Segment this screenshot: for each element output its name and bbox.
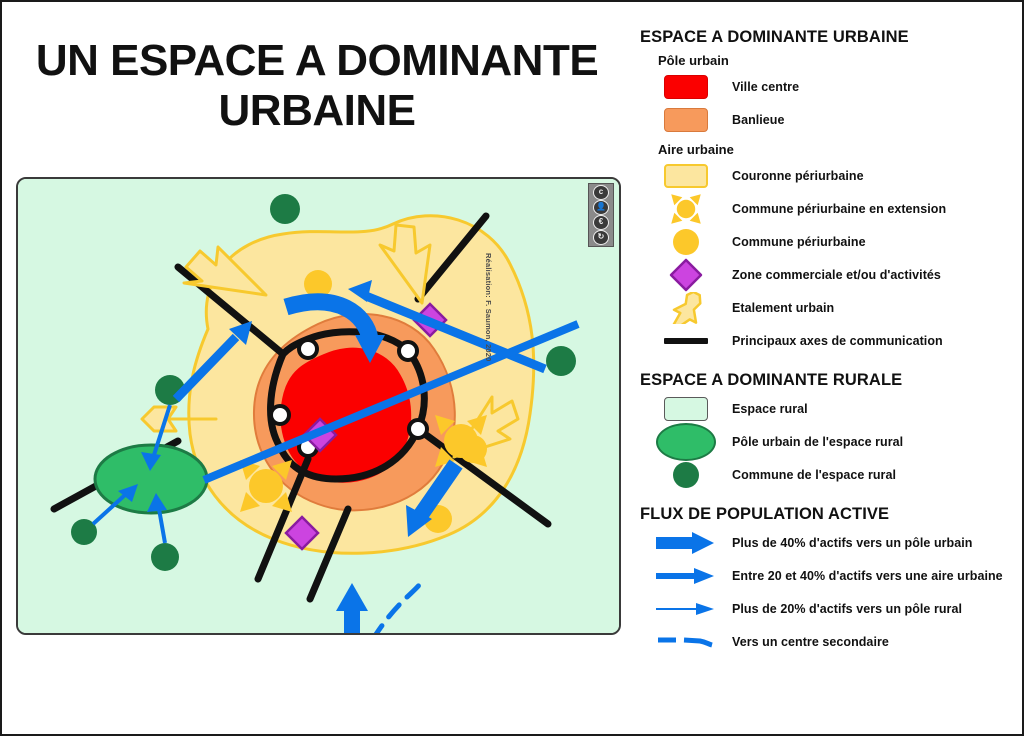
commune-rurale <box>151 543 179 571</box>
legend-item-axes-communication[interactable]: Principaux axes de communication <box>640 324 1014 357</box>
credit-text: Réalisation: F. Saumon, 2020 <box>484 253 493 373</box>
ellipse-green-icon <box>640 425 732 458</box>
map-canvas[interactable]: c 👤 € ↻ Réalisation: F. Saumon, 2020 <box>16 177 621 635</box>
rect-yellow-swatch <box>640 159 732 192</box>
legend-item-espace-rural[interactable]: Espace rural <box>640 392 1014 425</box>
credit-block: c 👤 € ↻ Réalisation: F. Saumon, 2020 <box>585 183 615 313</box>
creative-commons-badge: c 👤 € ↻ <box>588 183 614 247</box>
map-poster: UN ESPACE A DOMINANTE URBAINE <box>0 0 1024 736</box>
diamond-magenta-icon <box>640 258 732 291</box>
map-graphic <box>18 179 619 633</box>
page-title: UN ESPACE A DOMINANTE URBAINE <box>12 36 622 135</box>
legend-subtitle-aire-urbaine: Aire urbaine <box>658 142 1014 157</box>
legend-label: Plus de 40% d'actifs vers un pôle urbain <box>732 536 972 550</box>
legend-label: Principaux axes de communication <box>732 334 943 348</box>
rect-pale-green-swatch <box>640 392 732 425</box>
rect-red-swatch <box>640 70 732 103</box>
legend-item-ville-centre[interactable]: Ville centre <box>640 70 1014 103</box>
legend-label: Couronne périurbaine <box>732 169 864 183</box>
commune-rurale <box>546 346 576 376</box>
legend-label: Etalement urbain <box>732 301 834 315</box>
legend-label: Pôle urbain de l'espace rural <box>732 435 903 449</box>
legend-item-etalement-urbain[interactable]: Etalement urbain <box>640 291 1014 324</box>
legend-item-flux-20-rural[interactable]: Plus de 20% d'actifs vers un pôle rural <box>640 592 1014 625</box>
legend-item-commune-periurbaine[interactable]: Commune périurbaine <box>640 225 1014 258</box>
legend-section-title-rurale: ESPACE A DOMINANTE RURALE <box>640 371 1014 390</box>
legend-label: Entre 20 et 40% d'actifs vers une aire u… <box>732 569 1003 583</box>
legend-label: Commune périurbaine en extension <box>732 202 946 216</box>
cc-by-icon: 👤 <box>593 200 609 215</box>
legend-label: Zone commerciale et/ou d'activités <box>732 268 941 282</box>
thick-black-line-icon <box>640 324 732 357</box>
legend-label: Ville centre <box>732 80 799 94</box>
legend-panel: ESPACE A DOMINANTE URBAINE Pôle urbain V… <box>632 2 1022 734</box>
commune-rurale <box>270 194 300 224</box>
legend-section-title-flux: FLUX DE POPULATION ACTIVE <box>640 505 1014 524</box>
arrow-sprawl-icon <box>640 291 732 324</box>
arrow-flow-medium-icon <box>640 559 732 592</box>
legend-item-zone-commerciale[interactable]: Zone commerciale et/ou d'activités <box>640 258 1014 291</box>
circle-yellow-icon <box>640 225 732 258</box>
legend-item-couronne-periurbaine[interactable]: Couronne périurbaine <box>640 159 1014 192</box>
cc-sa-icon: ↻ <box>593 230 609 245</box>
legend-item-banlieue[interactable]: Banlieue <box>640 103 1014 136</box>
circle-dark-green-icon <box>640 458 732 491</box>
legend-item-pole-urbain-rural[interactable]: Pôle urbain de l'espace rural <box>640 425 1014 458</box>
legend-item-flux-dashed[interactable]: Vers un centre secondaire <box>640 625 1014 658</box>
legend-item-commune-rurale[interactable]: Commune de l'espace rural <box>640 458 1014 491</box>
arrow-flow-thin-icon <box>640 592 732 625</box>
rect-orange-swatch <box>640 103 732 136</box>
legend-label: Plus de 20% d'actifs vers un pôle rural <box>732 602 962 616</box>
legend-label: Commune de l'espace rural <box>732 468 896 482</box>
arrow-flow-thick-icon <box>640 526 732 559</box>
cc-icon: c <box>593 185 609 200</box>
legend-label: Banlieue <box>732 113 785 127</box>
cc-nc-icon: € <box>593 215 609 230</box>
legend-item-commune-extension[interactable]: Commune périurbaine en extension <box>640 192 1014 225</box>
legend-subtitle-pole-urbain: Pôle urbain <box>658 53 1014 68</box>
legend-label: Commune périurbaine <box>732 235 866 249</box>
star-burst-icon <box>640 192 732 225</box>
map-panel: UN ESPACE A DOMINANTE URBAINE <box>2 2 632 734</box>
legend-item-flux-40[interactable]: Plus de 40% d'actifs vers un pôle urbain <box>640 526 1014 559</box>
legend-label: Vers un centre secondaire <box>732 635 889 649</box>
legend-label: Espace rural <box>732 402 808 416</box>
legend-item-flux-20-40[interactable]: Entre 20 et 40% d'actifs vers une aire u… <box>640 559 1014 592</box>
legend-section-title-urbaine: ESPACE A DOMINANTE URBAINE <box>640 28 1014 47</box>
arrow-flow-dashed-icon <box>640 625 732 658</box>
